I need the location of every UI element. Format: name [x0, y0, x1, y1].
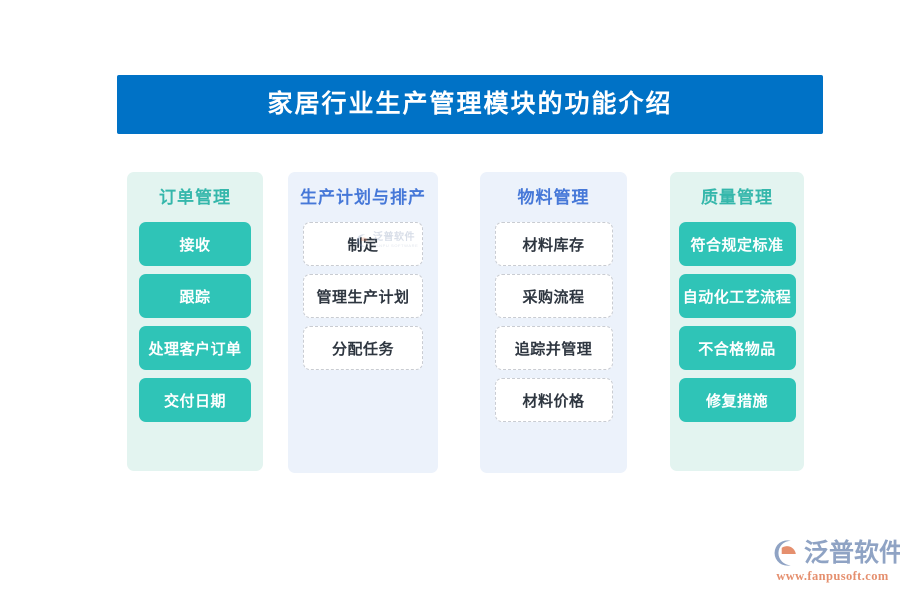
feature-button-order-0[interactable]: 接收 — [139, 222, 251, 266]
feature-card-title-order: 订单管理 — [127, 189, 263, 206]
brand-name-cn: 泛普软件 — [804, 541, 900, 566]
title-banner: 家居行业生产管理模块的功能介绍 — [117, 75, 823, 134]
feature-button-quality-1[interactable]: 自动化工艺流程 — [679, 274, 796, 318]
brand-row: 泛普软件 — [770, 538, 895, 568]
feature-card-material: 物料管理 材料库存 采购流程 追踪并管理 材料价格 — [480, 172, 627, 473]
page-title: 家居行业生产管理模块的功能介绍 — [267, 92, 672, 117]
feature-card-plan: 生产计划与排产 制定 管理生产计划 分配任务 — [288, 172, 438, 473]
feature-card-order: 订单管理 接收 跟踪 处理客户订单 交付日期 — [127, 172, 263, 471]
slide-canvas: 家居行业生产管理模块的功能介绍 订单管理 接收 跟踪 处理客户订单 交付日期 生… — [0, 0, 900, 600]
feature-button-order-1[interactable]: 跟踪 — [139, 274, 251, 318]
feature-button-order-2[interactable]: 处理客户订单 — [139, 326, 251, 370]
feature-button-list-material: 材料库存 采购流程 追踪并管理 材料价格 — [480, 222, 627, 422]
feature-button-list-plan: 制定 管理生产计划 分配任务 — [288, 222, 438, 370]
feature-card-quality: 质量管理 符合规定标准 自动化工艺流程 不合格物品 修复措施 — [670, 172, 804, 471]
feature-button-plan-2[interactable]: 分配任务 — [303, 326, 423, 370]
feature-button-material-2[interactable]: 追踪并管理 — [495, 326, 613, 370]
brand-logo: 泛普软件 www.fanpusoft.com — [770, 538, 895, 586]
feature-button-plan-1[interactable]: 管理生产计划 — [303, 274, 423, 318]
feature-button-material-0[interactable]: 材料库存 — [495, 222, 613, 266]
feature-button-list-quality: 符合规定标准 自动化工艺流程 不合格物品 修复措施 — [670, 222, 804, 422]
feature-button-material-3[interactable]: 材料价格 — [495, 378, 613, 422]
feature-button-list-order: 接收 跟踪 处理客户订单 交付日期 — [127, 222, 263, 422]
feature-button-quality-3[interactable]: 修复措施 — [679, 378, 796, 422]
feature-button-material-1[interactable]: 采购流程 — [495, 274, 613, 318]
feature-card-title-material: 物料管理 — [480, 189, 627, 206]
feature-columns: 订单管理 接收 跟踪 处理客户订单 交付日期 生产计划与排产 制定 管理生产计划… — [0, 172, 900, 474]
feature-card-title-plan: 生产计划与排产 — [288, 189, 438, 206]
feature-button-quality-0[interactable]: 符合规定标准 — [679, 222, 796, 266]
feature-button-order-3[interactable]: 交付日期 — [139, 378, 251, 422]
brand-url: www.fanpusoft.com — [770, 569, 895, 584]
feature-button-plan-0[interactable]: 制定 — [303, 222, 423, 266]
fanpu-logo-icon — [770, 538, 800, 568]
feature-button-quality-2[interactable]: 不合格物品 — [679, 326, 796, 370]
feature-card-title-quality: 质量管理 — [670, 189, 804, 206]
